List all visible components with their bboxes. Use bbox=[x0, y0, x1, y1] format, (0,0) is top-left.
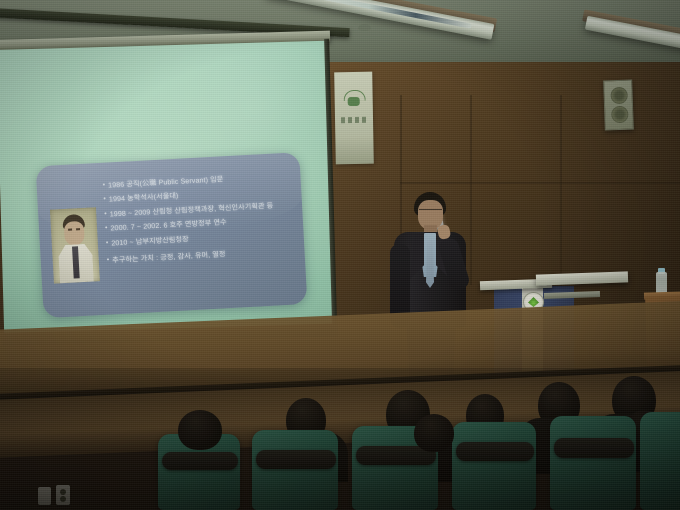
bullet-marker-icon: • bbox=[106, 238, 109, 248]
presenter-glasses-icon bbox=[419, 209, 442, 215]
auditorium-seat bbox=[452, 422, 536, 510]
seat-armrest bbox=[554, 438, 634, 458]
portrait-eye-left bbox=[68, 229, 72, 231]
emblem-core bbox=[348, 97, 360, 106]
presenter-tie bbox=[426, 240, 434, 288]
bullet-marker-icon: • bbox=[105, 224, 108, 234]
wall-speaker-icon bbox=[603, 80, 634, 131]
wall-horizontal-seam bbox=[400, 182, 680, 184]
audience-head bbox=[414, 414, 454, 452]
speaker-driver-upper bbox=[610, 87, 628, 105]
wall-panel-seam bbox=[560, 95, 562, 295]
slide-content-box: • 1986 공직(公職 Public Servant) 입문 • 1994 농… bbox=[36, 152, 308, 318]
wall-banner bbox=[334, 72, 374, 165]
portrait-face bbox=[64, 221, 85, 246]
organization-emblem-icon bbox=[343, 90, 365, 110]
banner-text-block bbox=[341, 117, 367, 123]
audience-head bbox=[178, 410, 222, 450]
projection-screen: • 1986 공직(公職 Public Servant) 입문 • 1994 농… bbox=[0, 31, 339, 358]
podium-emblem-leaf bbox=[528, 297, 539, 307]
bullet-marker-icon: • bbox=[107, 255, 110, 265]
presenter-portrait-photo bbox=[50, 207, 100, 283]
portrait-eye-right bbox=[76, 228, 80, 230]
seat-armrest bbox=[456, 442, 534, 461]
speaker-driver-lower bbox=[611, 106, 629, 124]
audience-area bbox=[0, 368, 680, 510]
seat-armrest bbox=[162, 452, 238, 470]
bullet-marker-icon: • bbox=[103, 195, 106, 205]
auditorium-seat bbox=[640, 412, 680, 510]
bullet-text: 추구하는 가치 : 긍정, 감사, 유머, 열정 bbox=[112, 249, 226, 265]
bullet-marker-icon: • bbox=[102, 181, 105, 191]
seat-armrest bbox=[256, 450, 336, 469]
bullet-text: 2000. 7 ~ 2002. 6 호주 연방정부 연수 bbox=[110, 217, 227, 233]
smoke-detector-icon bbox=[358, 24, 371, 31]
auditorium-seat bbox=[550, 416, 636, 510]
slide-bullet-item: • 추구하는 가치 : 긍정, 감사, 유머, 열정 bbox=[107, 245, 297, 265]
slide-bullet-list: • 1986 공직(公職 Public Servant) 입문 • 1994 농… bbox=[102, 171, 297, 270]
bullet-marker-icon: • bbox=[104, 209, 107, 219]
bullet-text: 2010 ~ 남부지방산림청장 bbox=[111, 234, 189, 248]
lecture-hall-photo: • 1986 공직(公職 Public Servant) 입문 • 1994 농… bbox=[0, 0, 680, 510]
bullet-text: 1994 농학석사(서울대) bbox=[109, 191, 179, 205]
auditorium-seat bbox=[252, 430, 338, 510]
